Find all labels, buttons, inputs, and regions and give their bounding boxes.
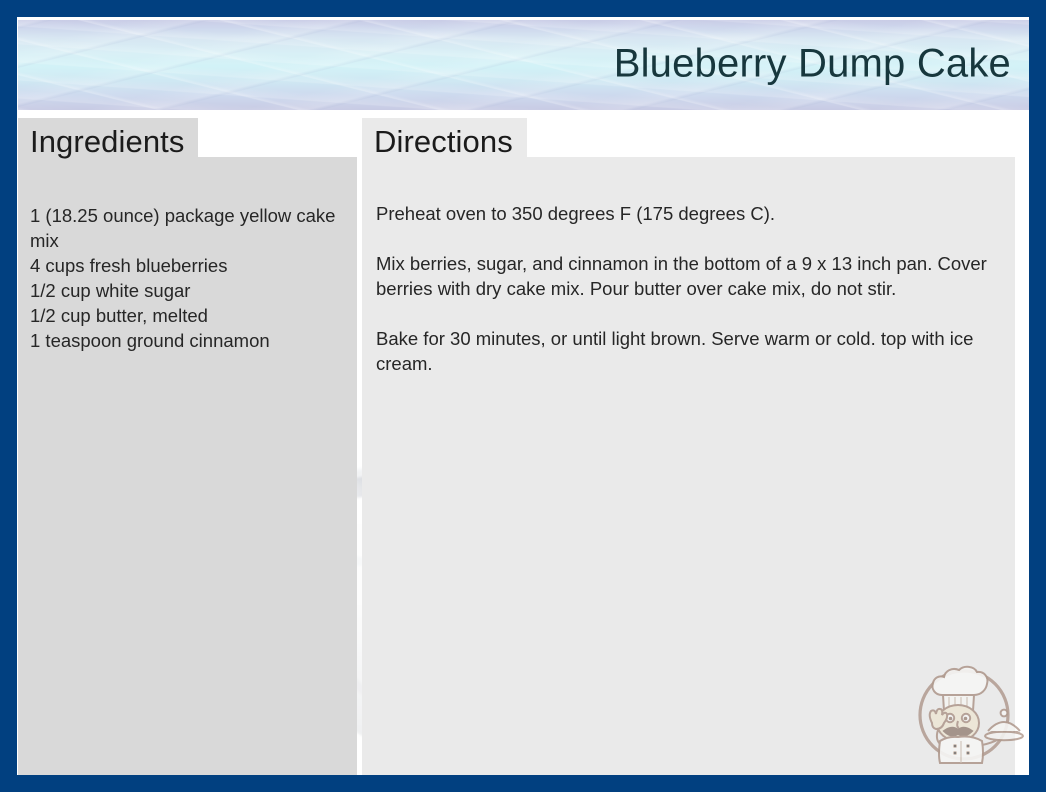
ingredients-list: 1 (18.25 ounce) package yellow cake mix … [30,203,348,353]
recipe-card-inner: Blueberry Dump Cake Ingredients 1 (18.25… [17,17,1029,775]
list-item: 4 cups fresh blueberries [30,253,348,278]
directions-heading: Directions [374,124,513,160]
page-title: Blueberry Dump Cake [614,42,1011,87]
ingredients-panel: Ingredients 1 (18.25 ounce) package yell… [18,118,357,775]
recipe-content: Ingredients 1 (18.25 ounce) package yell… [17,118,1029,775]
recipe-card: Blueberry Dump Cake Ingredients 1 (18.25… [0,0,1046,792]
list-item: 1/2 cup butter, melted [30,303,348,328]
direction-step: Bake for 30 minutes, or until light brow… [376,326,1008,376]
directions-panel: Directions Preheat oven to 350 degrees F… [362,118,1015,775]
list-item: 1 (18.25 ounce) package yellow cake mix [30,203,348,253]
directions-header: Directions [362,118,527,166]
directions-steps: Preheat oven to 350 degrees F (175 degre… [376,201,1008,376]
list-item: 1/2 cup white sugar [30,278,348,303]
list-item: 1 teaspoon ground cinnamon [30,328,348,353]
header-banner: Blueberry Dump Cake [18,20,1029,110]
direction-step: Preheat oven to 350 degrees F (175 degre… [376,201,1008,226]
direction-step: Mix berries, sugar, and cinnamon in the … [376,251,1008,301]
ingredients-header: Ingredients [18,118,198,166]
ingredients-heading: Ingredients [30,124,184,160]
